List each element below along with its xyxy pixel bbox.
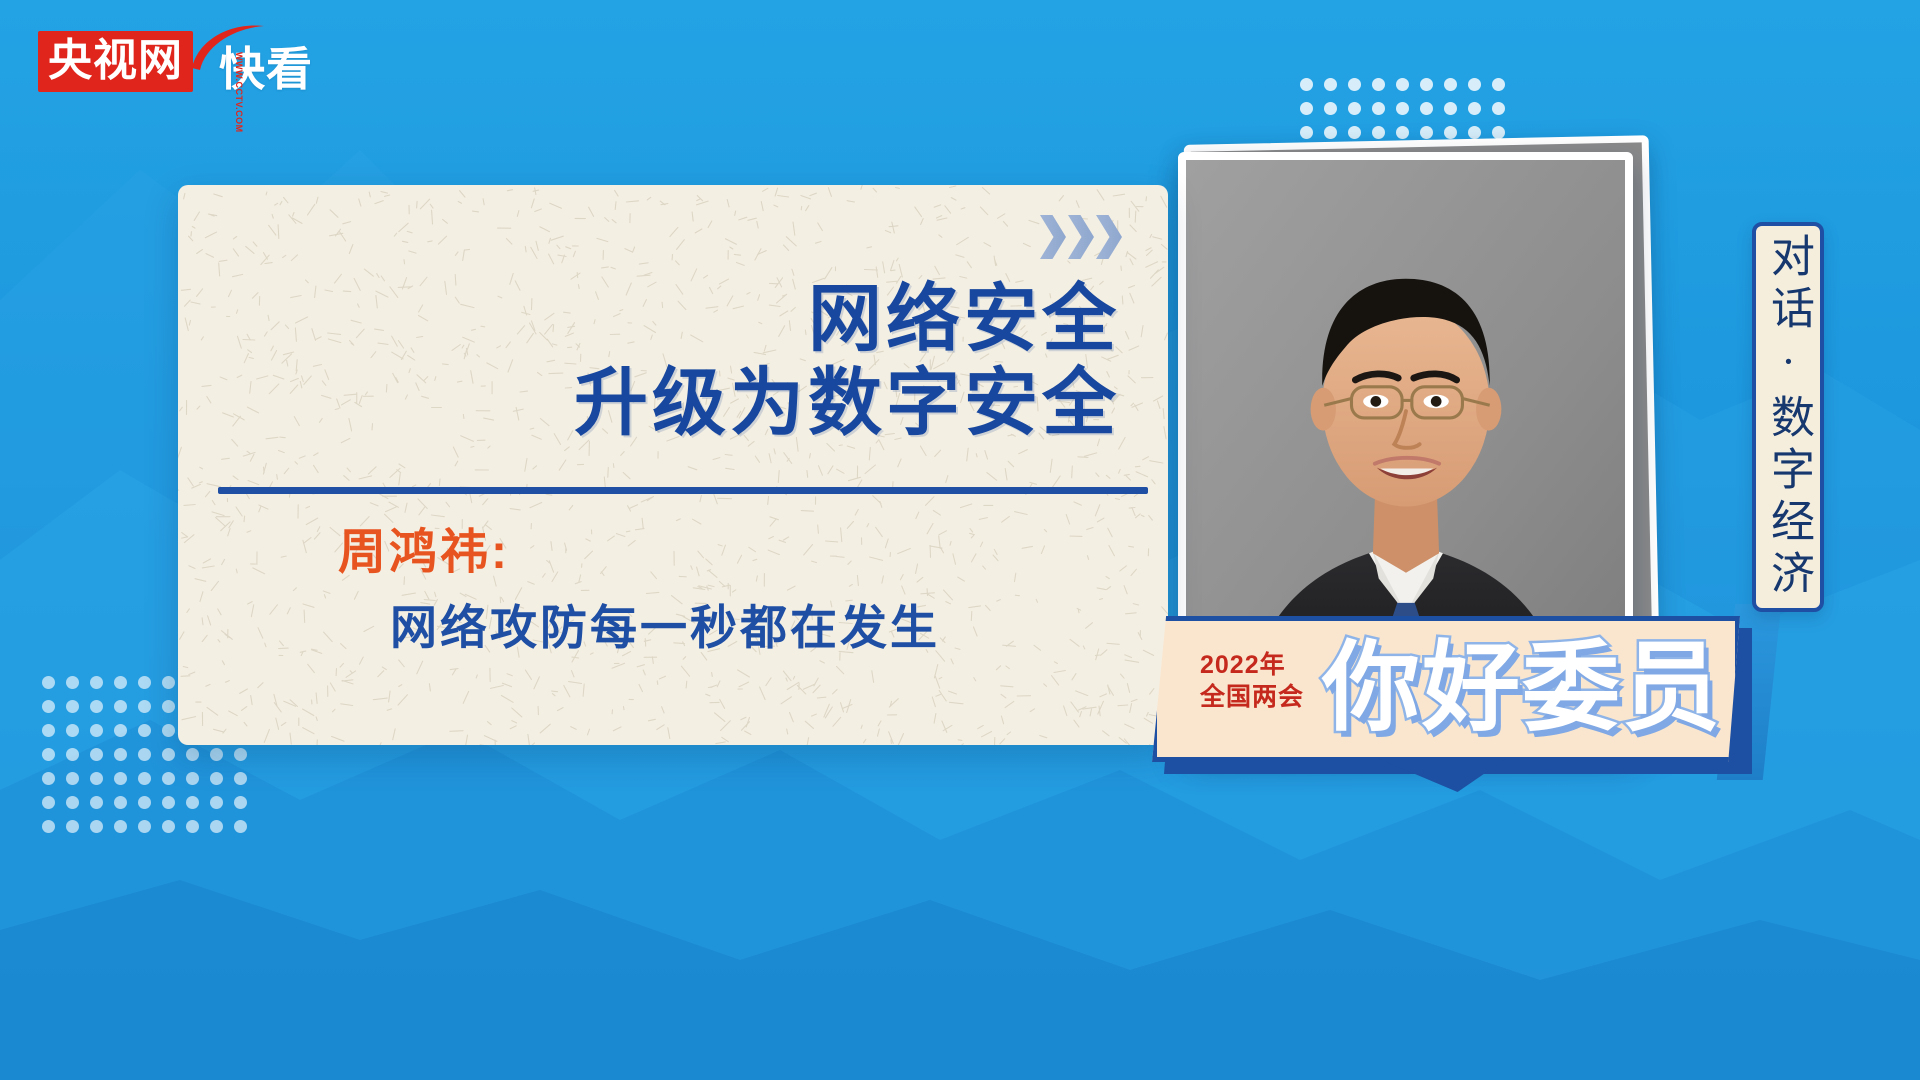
swoosh-icon: [188, 22, 268, 70]
poster-canvas: 央视网 WWW.CCTV.COM 快看: [0, 0, 1920, 1080]
quote-text: 网络攻防每一秒都在发生: [390, 589, 940, 658]
banner-year: 2022年: [1200, 650, 1304, 682]
page-title: 网络安全 升级为数字安全: [574, 277, 1120, 446]
program-banner: 2022年 全国两会 你好委员: [1152, 616, 1752, 774]
title-line-2: 升级为数字安全: [574, 361, 1120, 445]
cctv-logo[interactable]: 央视网 WWW.CCTV.COM 快看: [38, 26, 313, 92]
series-label: 对话·数字经济: [1752, 222, 1824, 612]
title-line-1: 网络安全: [808, 277, 1120, 360]
logo-url-text: WWW.CCTV.COM: [234, 52, 244, 133]
series-label-text: 对话·数字经济: [1756, 233, 1820, 602]
logo-wordmark: 央视网: [38, 31, 193, 92]
banner-event: 全国两会: [1200, 682, 1304, 714]
divider: [218, 487, 1148, 494]
main-content-card: 网络安全 升级为数字安全 周鸿祎: 网络攻防每一秒都在发生: [178, 185, 1168, 745]
speaker-name: 周鸿祎:: [338, 512, 510, 582]
banner-headline: 你好委员: [1322, 630, 1722, 746]
double-chevron-right-icon: [1040, 215, 1122, 259]
banner-year-block: 2022年 全国两会: [1200, 650, 1304, 713]
